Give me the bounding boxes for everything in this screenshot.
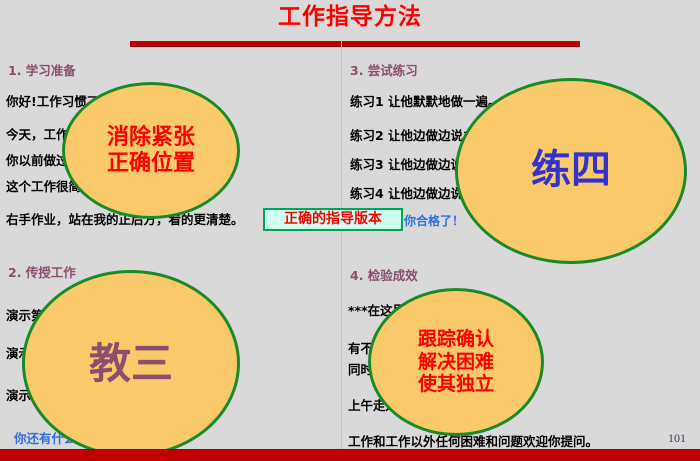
callout-ellipse-stress: 消除紧张 正确位置 <box>62 82 240 219</box>
page-title: 工作指导方法 <box>0 2 700 32</box>
section-2-heading: 2. 传授工作 <box>8 262 76 281</box>
callout-ellipse-teach: 教三 <box>22 270 240 457</box>
section-4-heading: 4. 检验成效 <box>350 265 418 284</box>
page-number: 101 <box>668 431 686 446</box>
section-3-heading: 3. 尝试练习 <box>350 60 418 79</box>
callout-ellipse-practice-text: 练四 <box>531 147 611 194</box>
slide-canvas: 工作指导方法 1. 学习准备 你好!工作习惯了吗?身体。 今天，工作教给你。 你… <box>0 0 700 461</box>
section-1-heading: 1. 学习准备 <box>8 60 76 79</box>
section-3-line-1: 练习1 让他默默地做一遍。 <box>350 91 501 110</box>
section-3-pass-note: 你合格了！ <box>404 212 464 229</box>
callout-ellipse-followup: 跟踪确认 解决困难 使其独立 <box>368 288 544 436</box>
callout-ellipse-stress-text: 消除紧张 正确位置 <box>107 125 195 177</box>
callout-ellipse-teach-text: 教三 <box>89 339 173 389</box>
correct-version-label: 正确的指导版本 <box>263 208 403 231</box>
column-divider <box>341 40 342 450</box>
title-underline-rule <box>130 41 580 47</box>
bottom-band <box>0 450 700 461</box>
callout-ellipse-practice: 练四 <box>455 78 687 264</box>
callout-ellipse-followup-text: 跟踪确认 解决困难 使其独立 <box>418 328 494 395</box>
